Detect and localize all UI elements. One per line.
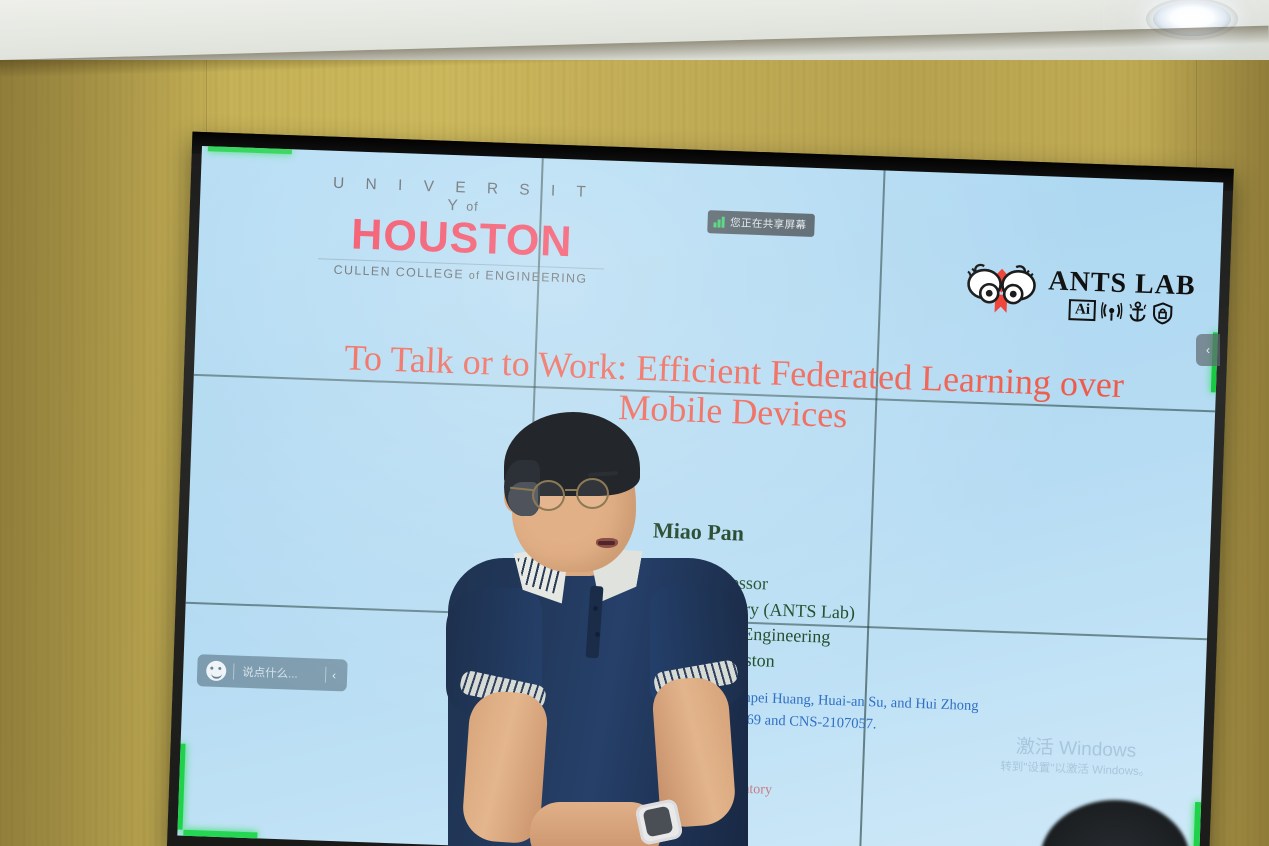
chat-input-placeholder[interactable]: 说点什么...	[234, 663, 326, 682]
chevron-left-icon[interactable]: ‹	[326, 668, 343, 683]
ants-lab-icon-row: Ai	[1069, 299, 1174, 325]
glasses-lens-left	[532, 480, 565, 511]
uh-university-word: U N I V E R S I T Y	[333, 175, 595, 215]
shield-lock-icon	[1153, 302, 1174, 325]
uh-cullen-college: CULLEN COLLEGE	[333, 263, 464, 282]
uh-houston-word: HOUSTON	[316, 212, 607, 264]
wristwatch-face	[642, 806, 673, 838]
presenter-person	[438, 410, 768, 846]
uh-of-word-2: of	[469, 270, 481, 282]
glasses-lens-right	[576, 478, 609, 509]
signal-bars-icon	[713, 216, 724, 227]
chat-input-bar[interactable]: 说点什么... ‹	[197, 654, 348, 691]
ants-lab-logo: ANTS LAB Ai	[961, 259, 1196, 329]
mouth-inner	[598, 541, 615, 545]
screen-share-label: 您正在共享屏幕	[730, 215, 807, 233]
smiley-icon[interactable]	[206, 660, 227, 681]
wireless-signal-icon	[1101, 301, 1124, 322]
chevron-left-icon: ‹	[1206, 343, 1210, 357]
university-of-houston-logo: U N I V E R S I T Yof HOUSTON CULLEN COL…	[315, 174, 608, 286]
ants-lab-wordmark: ANTS LAB	[1048, 267, 1196, 300]
ai-box-icon: Ai	[1069, 299, 1097, 321]
eyeglasses-icon	[526, 478, 642, 512]
anchor-icon	[1128, 301, 1149, 323]
shirt-button	[595, 632, 600, 637]
ant-mascot-icon	[961, 259, 1041, 324]
glasses-bridge	[565, 489, 578, 491]
uh-of-word: of	[466, 199, 479, 213]
shirt-button	[593, 606, 598, 611]
ants-lab-text-block: ANTS LAB Ai	[1047, 267, 1196, 325]
screen-share-banner[interactable]: 您正在共享屏幕	[707, 210, 815, 237]
watermark-subtitle: 转到"设置"以激活 Windows。	[1000, 759, 1150, 780]
sidebar-collapse-tab[interactable]: ‹	[1196, 334, 1220, 366]
uh-engineering-word: ENGINEERING	[485, 268, 588, 286]
panel-seam-vertical	[859, 170, 886, 846]
conference-room-scene: U N I V E R S I T Yof HOUSTON CULLEN COL…	[0, 0, 1269, 846]
